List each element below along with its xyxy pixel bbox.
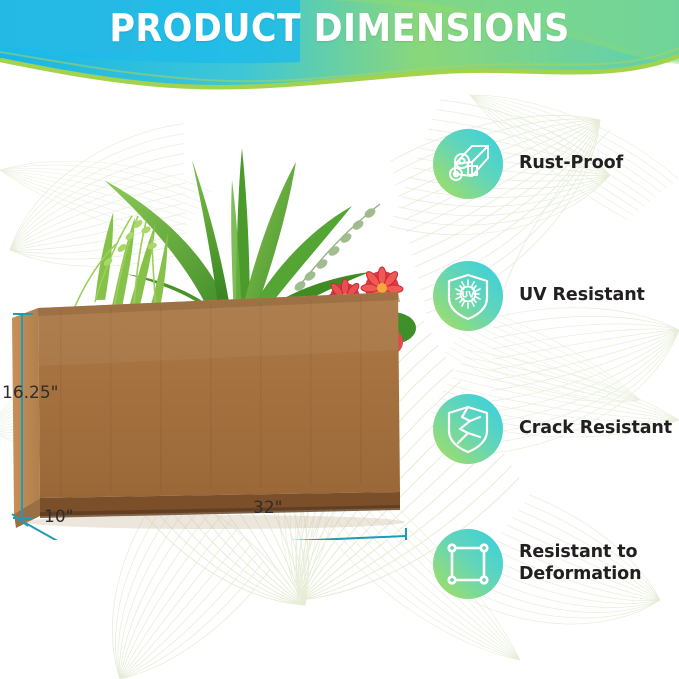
feature-label-crack-resistant: Crack Resistant	[519, 418, 672, 440]
feature-label-resistant-to-deformation: Resistant to Deformation	[519, 542, 641, 586]
square-nodes-transform-icon	[432, 528, 504, 600]
feature-item-resistant-to-deformation[interactable]: Resistant to Deformation	[432, 528, 679, 600]
feature-label-uv-resistant: UV Resistant	[519, 285, 645, 307]
width-dimension-label: 32"	[253, 498, 282, 518]
product-illustration	[0, 70, 440, 540]
width-dimension-line-right	[268, 536, 406, 540]
header-banner: PRODUCT DIMENSIONS	[0, 0, 679, 92]
planter-box-body	[12, 292, 405, 529]
page-title: PRODUCT DIMENSIONS	[27, 6, 652, 50]
product-dimensions-infographic: PRODUCT DIMENSIONS	[0, 0, 679, 679]
feature-item-rust-proof[interactable]: Rust-Proof	[432, 128, 679, 200]
cracked-shield-icon	[432, 393, 504, 465]
feature-item-crack-resistant[interactable]: Crack Resistant	[432, 393, 679, 465]
stacked-boards-icon	[432, 128, 504, 200]
feature-label-rust-proof: Rust-Proof	[519, 153, 623, 175]
feature-item-uv-resistant[interactable]: UV UV Resistant	[432, 260, 679, 332]
uv-shield-sun-icon: UV	[432, 260, 504, 332]
feature-label-line-2: Deformation	[519, 564, 641, 586]
height-dimension-label: 16.25"	[2, 383, 59, 403]
depth-dimension-label: 10"	[44, 507, 73, 527]
uv-icon-text: UV	[461, 289, 475, 299]
feature-label-line-1: Resistant to	[519, 542, 641, 564]
planter-box-with-plants	[0, 70, 440, 540]
